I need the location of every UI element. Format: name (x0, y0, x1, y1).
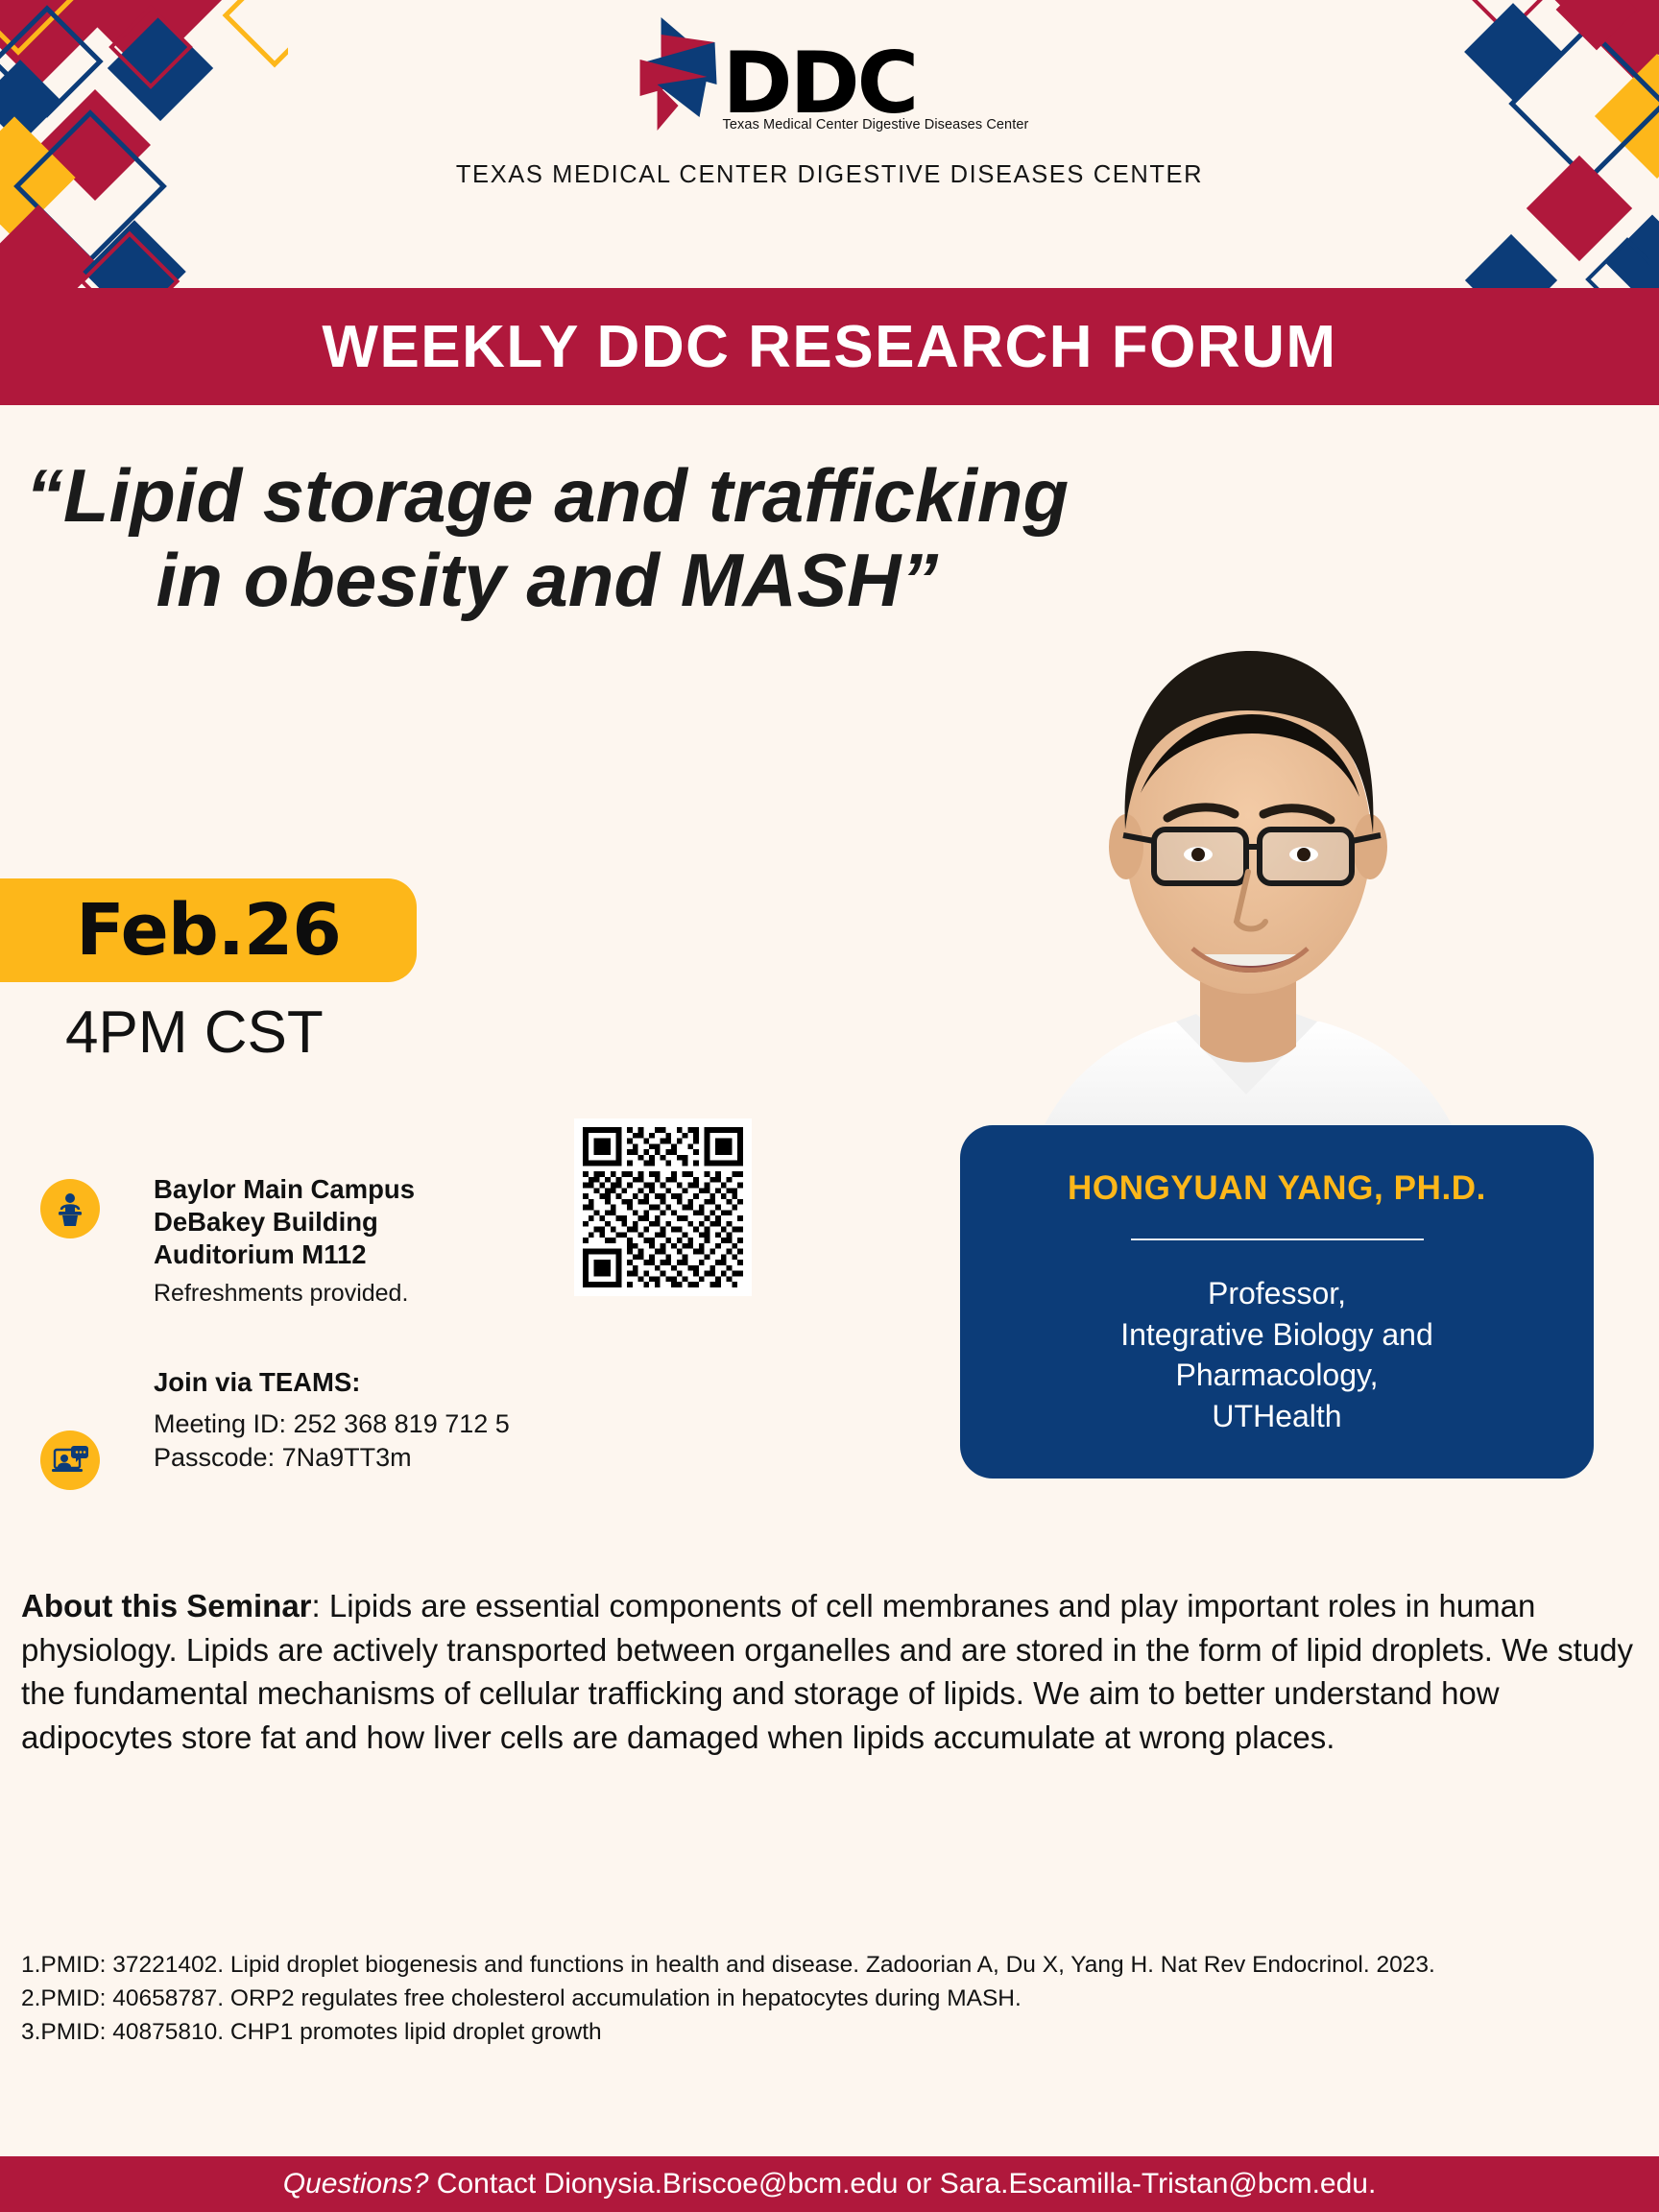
questions-label: Questions? (283, 2168, 429, 2200)
forum-banner: WEEKLY DDC RESEARCH FORUM (0, 288, 1659, 405)
date-text: Feb.26 (47, 889, 341, 972)
ddc-logo-mark-icon (631, 17, 719, 132)
about-label: About this Seminar (21, 1588, 312, 1623)
ddc-logo-text: DDC Texas Medical Center Digestive Disea… (723, 45, 1029, 132)
speaker-headshot-svg (979, 595, 1517, 1210)
speaker-role-line-4: UTHealth (998, 1396, 1555, 1437)
ddc-logo-letters: DDC (723, 45, 1029, 123)
forum-banner-title: WEEKLY DDC RESEARCH FORUM (322, 313, 1336, 381)
reference-item: 1.PMID: 37221402. Lipid droplet biogenes… (21, 1949, 1638, 1983)
reference-item: 2.PMID: 40658787. ORP2 regulates free ch… (21, 1983, 1638, 2016)
speaker-photo (979, 595, 1517, 1210)
seminar-title: “Lipid storage and trafficking in obesit… (10, 453, 1085, 622)
qr-code[interactable] (574, 1118, 752, 1296)
ddc-logo: DDC Texas Medical Center Digestive Disea… (631, 17, 1029, 132)
speaker-role-line-1: Professor, (998, 1273, 1555, 1314)
video-meeting-icon (40, 1431, 100, 1490)
teams-heading: Join via TEAMS: (154, 1367, 614, 1398)
speaker-divider (1131, 1238, 1424, 1240)
time-text: 4PM CST (65, 998, 324, 1067)
contact-emails: Contact Dionysia.Briscoe@bcm.edu or Sara… (428, 2168, 1376, 2200)
location-line-1: Baylor Main Campus (154, 1173, 557, 1206)
qr-code-svg (583, 1127, 743, 1287)
speaker-role: Professor, Integrative Biology and Pharm… (998, 1273, 1555, 1436)
speaker-role-line-3: Pharmacology, (998, 1355, 1555, 1396)
date-badge: Feb.26 (0, 878, 417, 982)
location-line-2: DeBakey Building (154, 1206, 557, 1238)
speaker-role-line-2: Integrative Biology and (998, 1314, 1555, 1356)
poster-header: DDC Texas Medical Center Digestive Disea… (0, 0, 1659, 288)
location-line-3: Auditorium M112 (154, 1238, 557, 1271)
ddc-logo-tagline: Texas Medical Center Digestive Diseases … (723, 117, 1029, 132)
teams-passcode: Passcode: 7Na9TT3m (154, 1441, 614, 1475)
video-meeting-icon-svg (50, 1440, 90, 1480)
references-list: 1.PMID: 37221402. Lipid droplet biogenes… (21, 1949, 1638, 2049)
contact-footer-text: Questions? Contact Dionysia.Briscoe@bcm.… (283, 2168, 1377, 2200)
refreshments-note: Refreshments provided. (154, 1280, 557, 1308)
reference-item: 3.PMID: 40875810. CHP1 promotes lipid dr… (21, 2016, 1638, 2050)
organization-name: TEXAS MEDICAL CENTER DIGESTIVE DISEASES … (0, 161, 1659, 189)
star-mark-svg (631, 17, 719, 132)
podium-speaker-icon (40, 1179, 100, 1238)
podium-icon-svg (51, 1190, 89, 1228)
teams-meeting-id: Meeting ID: 252 368 819 712 5 (154, 1407, 614, 1441)
about-seminar: About this Seminar: Lipids are essential… (21, 1584, 1638, 1759)
contact-footer: Questions? Contact Dionysia.Briscoe@bcm.… (0, 2156, 1659, 2212)
speaker-name: HONGYUAN YANG, PH.D. (998, 1169, 1555, 1208)
teams-block: Join via TEAMS: Meeting ID: 252 368 819 … (154, 1367, 614, 1474)
location-block: Baylor Main Campus DeBakey Building Audi… (154, 1173, 557, 1308)
speaker-card: HONGYUAN YANG, PH.D. Professor, Integrat… (960, 1125, 1594, 1479)
